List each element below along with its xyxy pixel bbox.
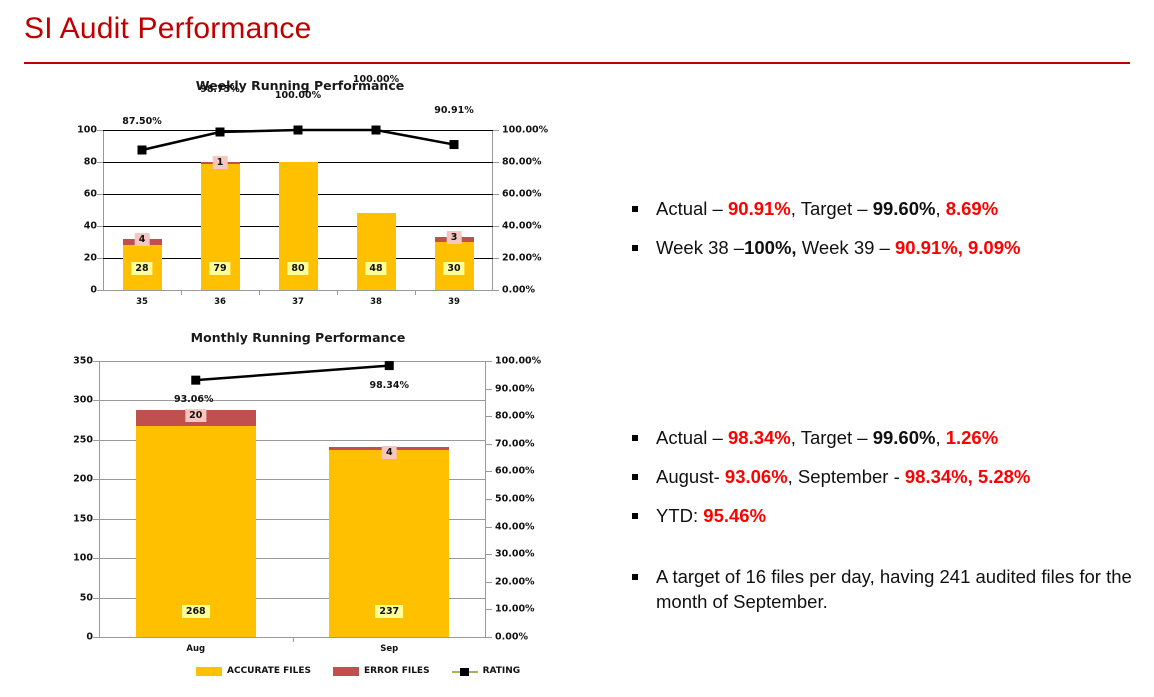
- rating-line-series: [103, 130, 493, 290]
- bullet-text-run: 98.34%, 5.28%: [905, 466, 1030, 487]
- y-axis-tick-label: 200: [73, 474, 93, 485]
- monthly-commentary-item: YTD: 95.46%: [618, 503, 1138, 528]
- x-axis-tick-label: Sep: [380, 644, 398, 654]
- bullet-text-run: 99.60%: [873, 427, 936, 448]
- secondary-y-axis-tick-label: 70.00%: [495, 438, 535, 449]
- y-axis-tick-label: 150: [73, 513, 93, 524]
- secondary-y-axis-tick-mark: [486, 637, 492, 638]
- bullet-text-run: , Target –: [791, 198, 873, 219]
- bullet-text-run: 90.91%: [728, 198, 791, 219]
- bullet-text-run: ,: [935, 427, 945, 448]
- x-axis-tick-label: Aug: [186, 644, 205, 654]
- chart-legend: ACCURATE FILESERROR FILESRATING: [196, 666, 520, 676]
- secondary-y-axis-tick-mark: [486, 389, 492, 390]
- rating-data-point-marker[interactable]: [372, 126, 381, 135]
- x-axis-tick-label: 36: [214, 297, 226, 307]
- secondary-y-axis-tick-label: 100.00%: [502, 125, 548, 136]
- secondary-y-axis-tick-mark: [486, 416, 492, 417]
- secondary-y-axis-tick-label: 40.00%: [495, 521, 535, 532]
- x-axis-separator: [415, 290, 416, 295]
- secondary-y-axis-tick-label: 10.00%: [495, 604, 535, 615]
- y-axis-tick-label: 100: [73, 553, 93, 564]
- secondary-y-axis-tick-mark: [493, 162, 499, 163]
- page-title: SI Audit Performance: [24, 12, 311, 46]
- bullet-text-run: 100%,: [744, 237, 796, 258]
- weekly-plot-area: 0204060801000.00%20.00%40.00%60.00%80.00…: [103, 130, 493, 290]
- legend-color-swatch: [196, 667, 222, 676]
- bullet-text-run: August-: [656, 466, 725, 487]
- secondary-y-axis-tick-label: 80.00%: [495, 411, 535, 422]
- rating-data-point-marker[interactable]: [138, 146, 147, 155]
- monthly-commentary-item: August- 93.06%, September - 98.34%, 5.28…: [618, 464, 1138, 489]
- x-axis-tick-label: 35: [136, 297, 148, 307]
- y-axis-tick-label: 50: [80, 592, 93, 603]
- secondary-y-axis-tick-label: 30.00%: [495, 549, 535, 560]
- secondary-y-axis-tick-mark: [493, 130, 499, 131]
- secondary-y-axis-tick-label: 50.00%: [495, 494, 535, 505]
- bullet-text-run: 99.60%: [873, 198, 936, 219]
- x-axis-separator: [337, 290, 338, 295]
- weekly-commentary-list: Actual – 90.91%, Target – 99.60%, 8.69%W…: [618, 196, 1138, 274]
- secondary-y-axis-tick-mark: [486, 527, 492, 528]
- y-axis-tick-label: 0: [90, 285, 97, 296]
- secondary-y-axis-tick-label: 0.00%: [495, 632, 528, 643]
- rating-line-path: [196, 366, 390, 381]
- secondary-y-axis-tick-mark: [486, 361, 492, 362]
- secondary-y-axis-tick-mark: [493, 290, 499, 291]
- secondary-y-axis-tick-label: 20.00%: [502, 253, 542, 264]
- secondary-y-axis-tick-mark: [486, 499, 492, 500]
- weekly-commentary-item: Actual – 90.91%, Target – 99.60%, 8.69%: [618, 196, 1138, 221]
- legend-item[interactable]: ERROR FILES: [333, 666, 430, 676]
- bullet-text-run: 1.26%: [946, 427, 998, 448]
- secondary-y-axis-tick-mark: [493, 226, 499, 227]
- secondary-y-axis-tick-mark: [486, 444, 492, 445]
- y-axis-tick-label: 100: [77, 125, 97, 136]
- bullet-text-run: Week 39 –: [797, 237, 895, 258]
- secondary-y-axis-tick-label: 0.00%: [502, 285, 535, 296]
- weekly-running-performance-chart: Weekly Running Performance 0204060801000…: [60, 78, 540, 310]
- legend-item-label: ERROR FILES: [364, 666, 430, 676]
- monthly-running-performance-chart: Monthly Running Performance 050100150200…: [56, 330, 540, 660]
- y-axis-tick-label: 20: [84, 253, 97, 264]
- secondary-y-axis-tick-label: 90.00%: [495, 383, 535, 394]
- secondary-y-axis-tick-mark: [493, 194, 499, 195]
- bullet-text-run: Week 38 –: [656, 237, 744, 258]
- y-axis-tick-label: 350: [73, 356, 93, 367]
- secondary-y-axis-tick-mark: [493, 258, 499, 259]
- y-axis-tick-label: 80: [84, 157, 97, 168]
- monthly-chart-title: Monthly Running Performance: [56, 330, 540, 345]
- secondary-y-axis-tick-label: 80.00%: [502, 157, 542, 168]
- bullet-text-run: Actual –: [656, 427, 728, 448]
- x-axis-tick-label: 39: [448, 297, 460, 307]
- y-axis-tick-label: 60: [84, 189, 97, 200]
- bullet-text-run: , Target –: [791, 427, 873, 448]
- secondary-y-axis-tick-mark: [486, 471, 492, 472]
- y-axis-tick-label: 250: [73, 434, 93, 445]
- secondary-y-axis-tick-label: 60.00%: [502, 189, 542, 200]
- y-axis-tick-label: 40: [84, 221, 97, 232]
- rating-line-series: [99, 361, 486, 637]
- secondary-y-axis-tick-label: 60.00%: [495, 466, 535, 477]
- rating-value-label: 90.91%: [434, 105, 474, 116]
- secondary-y-axis-tick-label: 20.00%: [495, 576, 535, 587]
- bullet-text-run: 90.91%, 9.09%: [895, 237, 1020, 258]
- legend-item[interactable]: ACCURATE FILES: [196, 666, 311, 676]
- secondary-y-axis-tick-mark: [486, 554, 492, 555]
- monthly-commentary-item: Actual – 98.34%, Target – 99.60%, 1.26%: [618, 425, 1138, 450]
- y-axis-tick-label: 0: [86, 632, 93, 643]
- legend-item-label: RATING: [483, 666, 521, 676]
- bullet-text-run: 8.69%: [946, 198, 998, 219]
- rating-value-label: 98.75%: [200, 84, 240, 95]
- weekly-commentary-item: Week 38 –100%, Week 39 – 90.91%, 9.09%: [618, 235, 1138, 260]
- x-axis-separator: [259, 290, 260, 295]
- rating-value-label: 87.50%: [122, 116, 162, 127]
- rating-value-label: 100.00%: [275, 90, 321, 101]
- rating-data-point-marker[interactable]: [385, 361, 394, 370]
- monthly-plot-area: 0501001502002503003500.00%10.00%20.00%30…: [99, 361, 486, 637]
- bullet-text-run: , September -: [788, 466, 905, 487]
- x-axis-line: [103, 290, 493, 291]
- y-axis-tick-mark: [97, 290, 103, 291]
- footnote-commentary-item: A target of 16 files per day, having 241…: [618, 564, 1148, 614]
- monthly-commentary-list: Actual – 98.34%, Target – 99.60%, 1.26%A…: [618, 425, 1138, 542]
- x-axis-tick-label: 38: [370, 297, 382, 307]
- bullet-text-run: A target of 16 files per day, having 241…: [656, 566, 1132, 612]
- title-divider: [24, 62, 1130, 64]
- footnote-commentary-list: A target of 16 files per day, having 241…: [618, 564, 1148, 628]
- rating-data-point-marker[interactable]: [216, 128, 225, 137]
- bullet-text-run: 98.34%: [728, 427, 791, 448]
- secondary-y-axis-tick-mark: [486, 582, 492, 583]
- bullet-text-run: Actual –: [656, 198, 728, 219]
- bullet-text-run: 93.06%: [725, 466, 788, 487]
- legend-color-swatch: [333, 667, 359, 676]
- x-axis-tick-label: 37: [292, 297, 304, 307]
- rating-value-label: 98.34%: [369, 380, 409, 391]
- bullet-text-run: YTD:: [656, 505, 703, 526]
- x-axis-separator: [293, 637, 294, 642]
- legend-item[interactable]: RATING: [452, 666, 521, 676]
- secondary-y-axis-tick-label: 100.00%: [495, 356, 541, 367]
- x-axis-separator: [181, 290, 182, 295]
- bullet-text-run: ,: [935, 198, 945, 219]
- rating-data-point-marker[interactable]: [294, 126, 303, 135]
- y-axis-tick-label: 300: [73, 395, 93, 406]
- rating-data-point-marker[interactable]: [191, 376, 200, 385]
- bullet-text-run: 95.46%: [703, 505, 766, 526]
- rating-value-label: 100.00%: [353, 74, 399, 85]
- y-axis-tick-mark: [93, 637, 99, 638]
- secondary-y-axis-tick-label: 40.00%: [502, 221, 542, 232]
- rating-data-point-marker[interactable]: [450, 140, 459, 149]
- legend-item-label: ACCURATE FILES: [227, 666, 311, 676]
- legend-line-marker-icon: [452, 667, 478, 676]
- secondary-y-axis-tick-mark: [486, 609, 492, 610]
- rating-value-label: 93.06%: [174, 394, 214, 405]
